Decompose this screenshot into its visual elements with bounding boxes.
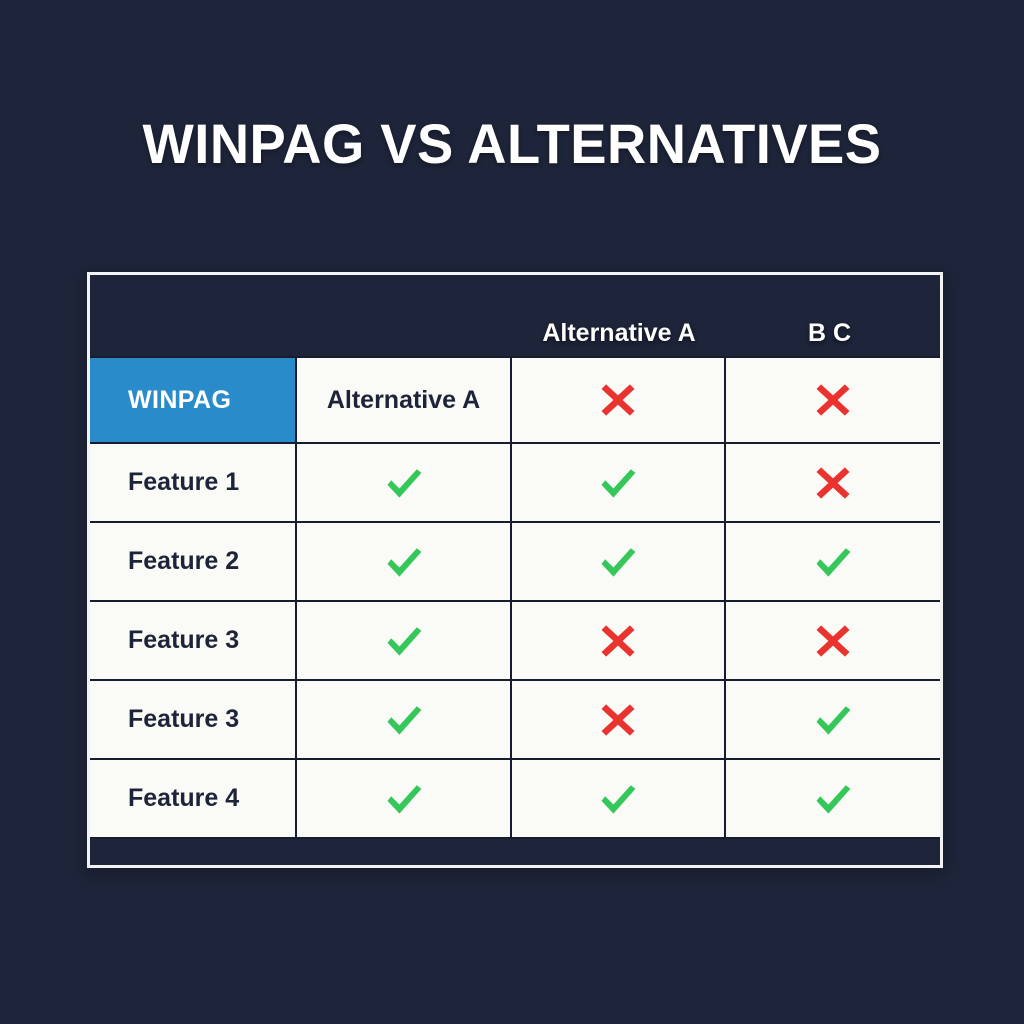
- page-title: WINPAG VS ALTERNATIVES: [15, 112, 1008, 176]
- row-label: Feature 2: [128, 547, 239, 576]
- table-header-row: Alternative A B C: [90, 275, 940, 356]
- comparison-table: Alternative A B C WINPAGAlternative AFea…: [87, 272, 943, 868]
- table-cell: [512, 681, 726, 758]
- cross-icon: [596, 378, 640, 422]
- check-icon: [382, 698, 426, 742]
- table-cell: [512, 358, 726, 442]
- table-row: Feature 2: [90, 523, 940, 602]
- row-label: Feature 3: [128, 626, 239, 655]
- cell-text-value: Alternative A: [327, 386, 480, 415]
- table-cell: [726, 681, 940, 758]
- check-icon: [596, 777, 640, 821]
- table-cell: [726, 760, 940, 837]
- row-label-cell: Feature 2: [90, 523, 297, 600]
- cross-icon: [811, 461, 855, 505]
- table-cell: [297, 523, 512, 600]
- table-row: Feature 3: [90, 602, 940, 681]
- table-cell: [726, 358, 940, 442]
- table-inner: Alternative A B C WINPAGAlternative AFea…: [90, 275, 940, 865]
- table-cell: [726, 444, 940, 521]
- table-cell: [512, 444, 726, 521]
- check-icon: [382, 461, 426, 505]
- row-label-cell: Feature 1: [90, 444, 297, 521]
- check-icon: [596, 540, 640, 584]
- check-icon: [811, 777, 855, 821]
- table-cell: [297, 444, 512, 521]
- table-row: Feature 4: [90, 760, 940, 837]
- check-icon: [382, 619, 426, 663]
- table-cell: Alternative A: [297, 358, 512, 442]
- row-label-cell: Feature 3: [90, 602, 297, 679]
- table-cell: [726, 602, 940, 679]
- header-col-b-c: B C: [726, 275, 940, 356]
- table-row: WINPAGAlternative A: [90, 358, 940, 444]
- table-cell: [297, 602, 512, 679]
- table-body: WINPAGAlternative AFeature 1Feature 2Fea…: [90, 356, 940, 837]
- cross-icon: [596, 619, 640, 663]
- check-icon: [596, 461, 640, 505]
- header-col-winpag: [297, 275, 512, 356]
- check-icon: [811, 540, 855, 584]
- cross-icon: [811, 619, 855, 663]
- table-cell: [512, 602, 726, 679]
- check-icon: [382, 777, 426, 821]
- row-label: Feature 4: [128, 784, 239, 813]
- table-cell: [297, 760, 512, 837]
- table-row: Feature 3: [90, 681, 940, 760]
- table-cell: [512, 760, 726, 837]
- row-label: WINPAG: [128, 386, 231, 415]
- table-cell: [726, 523, 940, 600]
- cross-icon: [596, 698, 640, 742]
- table-cell: [297, 681, 512, 758]
- row-label-cell: Feature 3: [90, 681, 297, 758]
- row-label-cell: Feature 4: [90, 760, 297, 837]
- header-col-feature: [90, 275, 297, 356]
- row-label-cell-highlighted: WINPAG: [90, 358, 297, 442]
- table-row: Feature 1: [90, 444, 940, 523]
- table-cell: [512, 523, 726, 600]
- cross-icon: [811, 378, 855, 422]
- header-col-alternative-a: Alternative A: [512, 275, 726, 356]
- row-label: Feature 3: [128, 705, 239, 734]
- row-label: Feature 1: [128, 468, 239, 497]
- check-icon: [382, 540, 426, 584]
- table-footer-strip: [90, 837, 940, 865]
- check-icon: [811, 698, 855, 742]
